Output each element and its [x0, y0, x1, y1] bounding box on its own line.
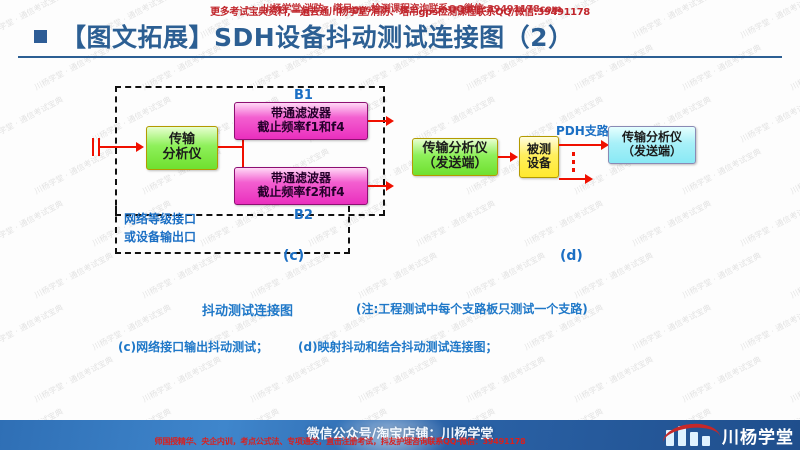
dut-line1: 被测: [527, 143, 551, 157]
diagram-c-label: (c): [283, 248, 304, 264]
receiver-analyzer-line2: （发送端）: [622, 145, 682, 159]
filter-b1-line2: 截止频率f1和f4: [257, 121, 344, 135]
pdh-branch-label: PDH支路: [556, 122, 609, 139]
slide-root: 川杨学堂 · 通信考试宝典川杨学堂 · 通信考试宝典川杨学堂 · 通信考试宝典川…: [0, 0, 800, 450]
line-dut-branch-bottom: [559, 178, 587, 180]
filter-b2-line1: 带通滤波器: [271, 172, 331, 186]
bottom-banner: 微信公众号/淘宝店铺：川杨学堂 师国授精华、央企内训，考点公式法、专项通关，直击…: [0, 420, 800, 450]
logo-mark-icon: [664, 422, 718, 448]
filter-b2-box: 带通滤波器 截止频率f2和f4: [234, 167, 368, 205]
arrow-to-analyzer: [136, 142, 144, 152]
marquee-text-overlay: 川杨学堂/消防、塔吊gps检测课程咨询联系QQ微信:39491178com: [262, 0, 561, 15]
banner-red-text: 师国授精华、央企内训，考点公式法、专项通关，直击注册考试，抖友护理咨询联系QQ·…: [0, 436, 680, 447]
sender-analyzer-line2: （发送端）: [422, 157, 487, 172]
filter-b1-line1: 带通滤波器: [271, 107, 331, 121]
receiver-analyzer-line1: 传输分析仪: [622, 131, 682, 145]
analyzer-box-c-line2: 分析仪: [162, 148, 201, 163]
arrow-sender-to-dut: [510, 152, 518, 162]
dut-line2: 设备: [527, 157, 551, 171]
dut-box: 被测 设备: [519, 136, 559, 178]
caption-note: (注:工程测试中每个支路板只测试一个支路): [356, 300, 588, 317]
page-title: 【图文拓展】SDH设备抖动测试连接图（2）: [61, 18, 574, 54]
line-terminal-to-analyzer: [98, 146, 138, 148]
logo-swoosh-icon: [661, 421, 721, 447]
filter-b1-box: 带通滤波器 截止频率f1和f4: [234, 102, 368, 140]
branch-ellipsis-dots: [572, 152, 575, 172]
top-marquee: 更多考试宝典资料,一遍去通川杨学堂/消防、塔吊gps检测课程联系QQ/微信:39…: [0, 0, 800, 16]
port-note-line1: 网络等级接口: [124, 210, 196, 227]
title-divider: [18, 56, 782, 58]
line-dut-branch-top: [559, 144, 603, 146]
brand-logo: 川杨学堂: [664, 420, 794, 450]
diagram-d-label: (d): [560, 248, 583, 264]
arrow-b2-out: [386, 181, 394, 191]
logo-text: 川杨学堂: [722, 423, 794, 448]
sender-analyzer-box: 传输分析仪 （发送端）: [412, 138, 498, 176]
caption-main: 抖动测试连接图: [202, 300, 293, 319]
analyzer-box-c: 传输 分析仪: [146, 126, 218, 170]
caption-sub-d: (d)映射抖动和结合抖动测试连接图；: [298, 338, 498, 355]
arrow-b1-out: [386, 116, 394, 126]
filter-b2-line2: 截止频率f2和f4: [257, 186, 344, 200]
analyzer-box-c-line1: 传输: [169, 133, 195, 148]
page-title-row: 【图文拓展】SDH设备抖动测试连接图（2）: [34, 18, 574, 54]
sender-analyzer-line1: 传输分析仪: [422, 142, 487, 157]
square-bullet-icon: [34, 30, 47, 43]
receiver-analyzer-box: 传输分析仪 （发送端）: [608, 126, 696, 164]
line-analyzer-out: [218, 146, 244, 148]
arrow-branch-bottom: [585, 174, 593, 184]
filter-b2-tag: B2: [294, 208, 313, 223]
filter-b1-tag: B1: [294, 88, 313, 103]
port-note-line2: 或设备输出口: [124, 228, 196, 245]
caption-sub-c: (c)网络接口输出抖动测试；: [118, 338, 268, 355]
